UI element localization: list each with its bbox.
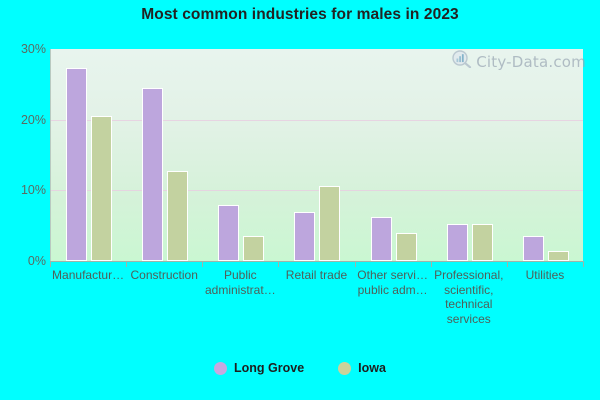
x-axis-label: Retail trade: [278, 268, 354, 283]
bar-iowa[interactable]: [167, 171, 188, 261]
bar-long-grove[interactable]: [294, 212, 315, 261]
x-tick: [50, 261, 51, 267]
bar-group: [356, 49, 432, 261]
legend-swatch: [338, 362, 351, 375]
x-axis-label: Other servi… public adm…: [355, 268, 431, 297]
y-tick-label: 20%: [4, 113, 46, 127]
x-tick: [583, 261, 584, 267]
bar-iowa[interactable]: [243, 236, 264, 261]
bar-long-grove[interactable]: [142, 88, 163, 261]
x-axis-label: Public administrat…: [202, 268, 278, 297]
plot-area: [50, 49, 583, 261]
chart-container: Most common industries for males in 2023…: [0, 0, 600, 400]
legend-item[interactable]: Long Grove: [214, 361, 304, 375]
magnifier-barchart-icon: [451, 50, 473, 73]
watermark: City-Data.com: [451, 50, 586, 73]
bar-group: [127, 49, 203, 261]
legend-item[interactable]: Iowa: [338, 361, 386, 375]
x-tick: [126, 261, 127, 267]
bar-group: [51, 49, 127, 261]
x-axis-label: Utilities: [507, 268, 583, 283]
x-tick: [431, 261, 432, 267]
legend-label: Iowa: [358, 361, 386, 375]
x-axis-label: Construction: [126, 268, 202, 283]
chart-legend: Long GroveIowa: [0, 361, 600, 375]
x-axis-line: [50, 261, 583, 262]
chart-title: Most common industries for males in 2023: [0, 6, 600, 24]
bar-long-grove[interactable]: [371, 217, 392, 261]
watermark-text: City-Data.com: [476, 53, 586, 71]
bar-long-grove[interactable]: [66, 68, 87, 261]
bar-iowa[interactable]: [91, 116, 112, 261]
bar-long-grove[interactable]: [218, 205, 239, 261]
y-tick-label: 10%: [4, 183, 46, 197]
bar-group: [203, 49, 279, 261]
x-tick: [507, 261, 508, 267]
x-tick: [202, 261, 203, 267]
bar-long-grove[interactable]: [447, 224, 468, 261]
y-tick-label: 30%: [4, 42, 46, 56]
bar-group: [432, 49, 508, 261]
bar-iowa[interactable]: [396, 233, 417, 261]
x-axis-label: Professional, scientific, technical serv…: [431, 268, 507, 326]
y-axis: 0%10%20%30%: [0, 0, 46, 400]
bar-iowa[interactable]: [319, 186, 340, 261]
bar-iowa[interactable]: [548, 251, 569, 261]
bar-iowa[interactable]: [472, 224, 493, 261]
legend-label: Long Grove: [234, 361, 304, 375]
bar-long-grove[interactable]: [523, 236, 544, 261]
x-axis-label: Manufactur…: [50, 268, 126, 283]
x-tick: [355, 261, 356, 267]
x-tick: [278, 261, 279, 267]
legend-swatch: [214, 362, 227, 375]
bar-group: [279, 49, 355, 261]
y-tick-label: 0%: [4, 254, 46, 268]
bar-group: [508, 49, 584, 261]
